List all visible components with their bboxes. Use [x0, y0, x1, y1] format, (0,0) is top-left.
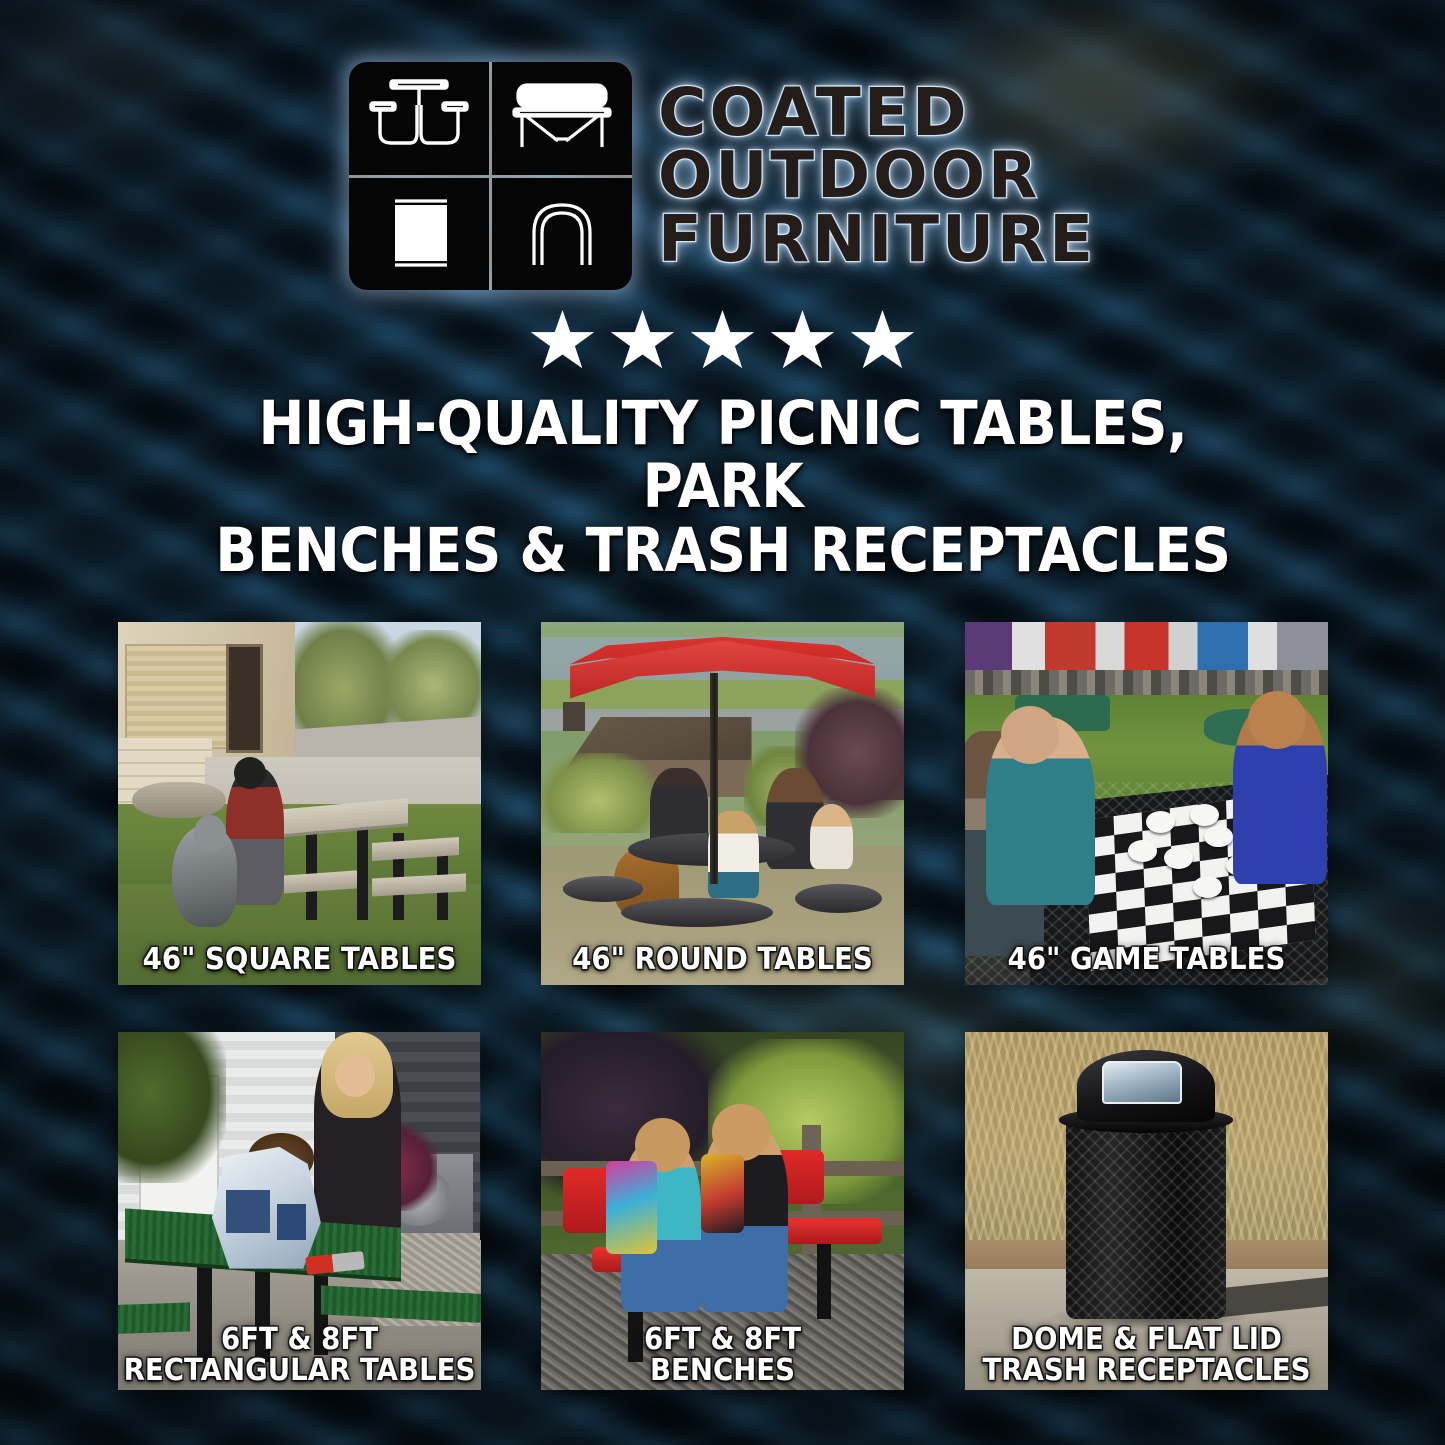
product-photo	[541, 622, 904, 985]
product-tile-rectangular-tables[interactable]: 6FT & 8FT RECTANGULAR TABLES	[118, 1032, 481, 1390]
product-photo	[118, 622, 481, 985]
product-tile-square-tables[interactable]: 46" SQUARE TABLES	[118, 622, 481, 985]
product-caption: 6FT & 8FT BENCHES	[533, 1325, 911, 1386]
product-caption: 46" SQUARE TABLES	[110, 945, 488, 976]
page-title: HIGH-QUALITY PICNIC TABLES, PARK BENCHES…	[169, 392, 1276, 582]
caption-line-1: 46" SQUARE TABLES	[110, 945, 488, 976]
brand-wordmark: COATED OUTDOOR FURNITURE	[658, 81, 1096, 271]
product-grid: 46" SQUARE TABLES	[118, 622, 1328, 1390]
star-rating	[0, 310, 1445, 374]
promo-banner: COATED OUTDOOR FURNITURE HIGH-QUALITY PI…	[0, 0, 1445, 1445]
logo-icon-grid	[349, 62, 632, 290]
caption-line-1: 46" ROUND TABLES	[533, 945, 911, 976]
brand-logo: COATED OUTDOOR FURNITURE	[0, 0, 1445, 290]
product-photo	[965, 622, 1328, 985]
caption-line-2: RECTANGULAR TABLES	[110, 1356, 488, 1387]
star-icon	[530, 310, 596, 374]
product-caption: 46" ROUND TABLES	[533, 945, 911, 976]
star-icon	[610, 310, 676, 374]
caption-line-1: DOME & FLAT LID	[957, 1325, 1335, 1356]
product-tile-benches[interactable]: 6FT & 8FT BENCHES	[541, 1032, 904, 1390]
caption-line-2: BENCHES	[533, 1356, 911, 1387]
product-caption: DOME & FLAT LID TRASH RECEPTACLES	[957, 1325, 1335, 1386]
headline-line-2: BENCHES & TRASH RECEPTACLES	[169, 519, 1276, 582]
star-icon	[770, 310, 836, 374]
brand-name-line-1: COATED	[658, 81, 1096, 144]
brand-name-line-2: OUTDOOR	[658, 146, 1096, 207]
product-tile-round-tables[interactable]: 46" ROUND TABLES	[541, 622, 904, 985]
bike-rack-icon	[492, 178, 632, 291]
product-caption: 46" GAME TABLES	[957, 945, 1335, 976]
brand-name-line-3: FURNITURE	[658, 210, 1096, 271]
caption-line-1: 6FT & 8FT	[110, 1325, 488, 1356]
product-tile-game-tables[interactable]: 46" GAME TABLES	[965, 622, 1328, 985]
star-icon	[850, 310, 916, 374]
picnic-table-icon	[349, 62, 489, 175]
headline-line-1: HIGH-QUALITY PICNIC TABLES, PARK	[169, 392, 1276, 519]
trash-receptacle-icon	[349, 178, 489, 291]
caption-line-1: 46" GAME TABLES	[957, 945, 1335, 976]
bench-icon	[492, 62, 632, 175]
product-tile-trash-receptacles[interactable]: DOME & FLAT LID TRASH RECEPTACLES	[965, 1032, 1328, 1390]
star-icon	[690, 310, 756, 374]
caption-line-2: TRASH RECEPTACLES	[957, 1356, 1335, 1387]
caption-line-1: 6FT & 8FT	[533, 1325, 911, 1356]
product-caption: 6FT & 8FT RECTANGULAR TABLES	[110, 1325, 488, 1386]
